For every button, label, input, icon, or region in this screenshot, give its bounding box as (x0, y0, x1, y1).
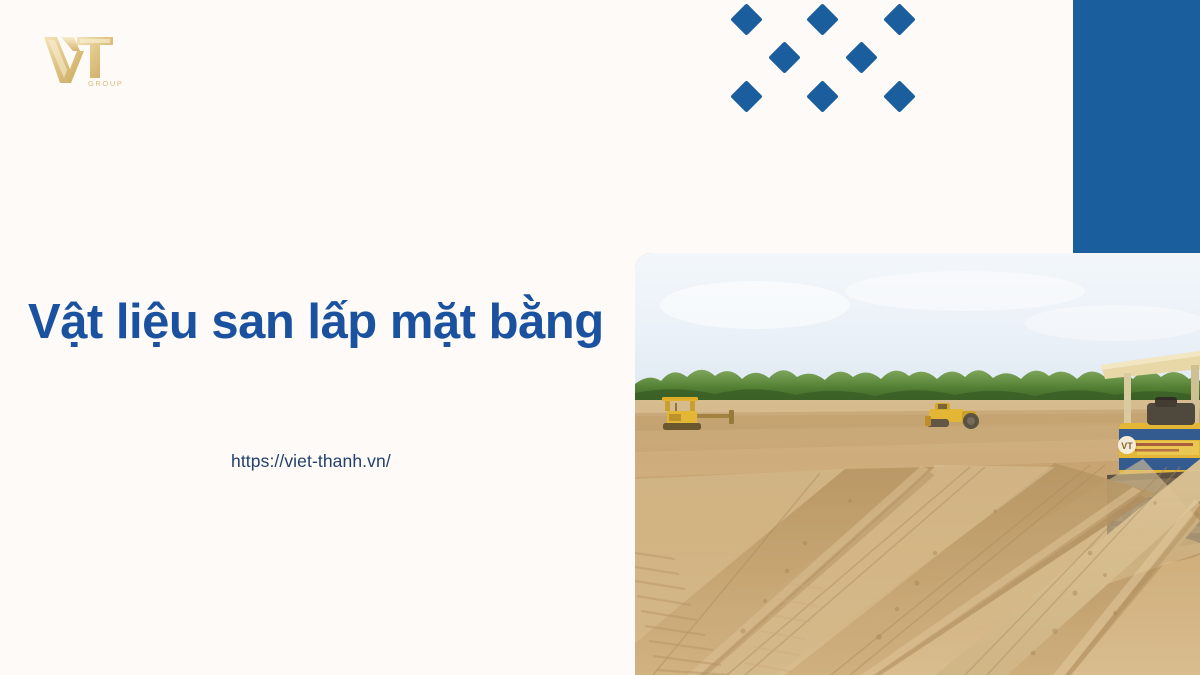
diamond-icon (845, 41, 878, 74)
diamond-icon (806, 80, 839, 113)
diamond-icon (730, 3, 763, 36)
vt-group-logo-mark: GROUP (30, 26, 140, 88)
banner-canvas: GROUP Vật liệu san lấp mặt bằng https://… (0, 0, 1200, 675)
site-photo-illustration: VT (635, 253, 1200, 675)
site-url[interactable]: https://viet-thanh.vn/ (231, 451, 391, 472)
page-title: Vật liệu san lấp mặt bằng (28, 291, 628, 353)
diamond-pattern-decoration (725, 0, 920, 120)
diamond-icon (730, 80, 763, 113)
diamond-icon (883, 3, 916, 36)
blue-accent-panel (1073, 0, 1200, 254)
diamond-icon (768, 41, 801, 74)
land-leveling-site-photo: VT (635, 253, 1200, 675)
svg-text:GROUP: GROUP (88, 79, 124, 88)
diamond-icon (806, 3, 839, 36)
diamond-icon (883, 80, 916, 113)
vt-group-logo[interactable]: GROUP (30, 26, 140, 88)
